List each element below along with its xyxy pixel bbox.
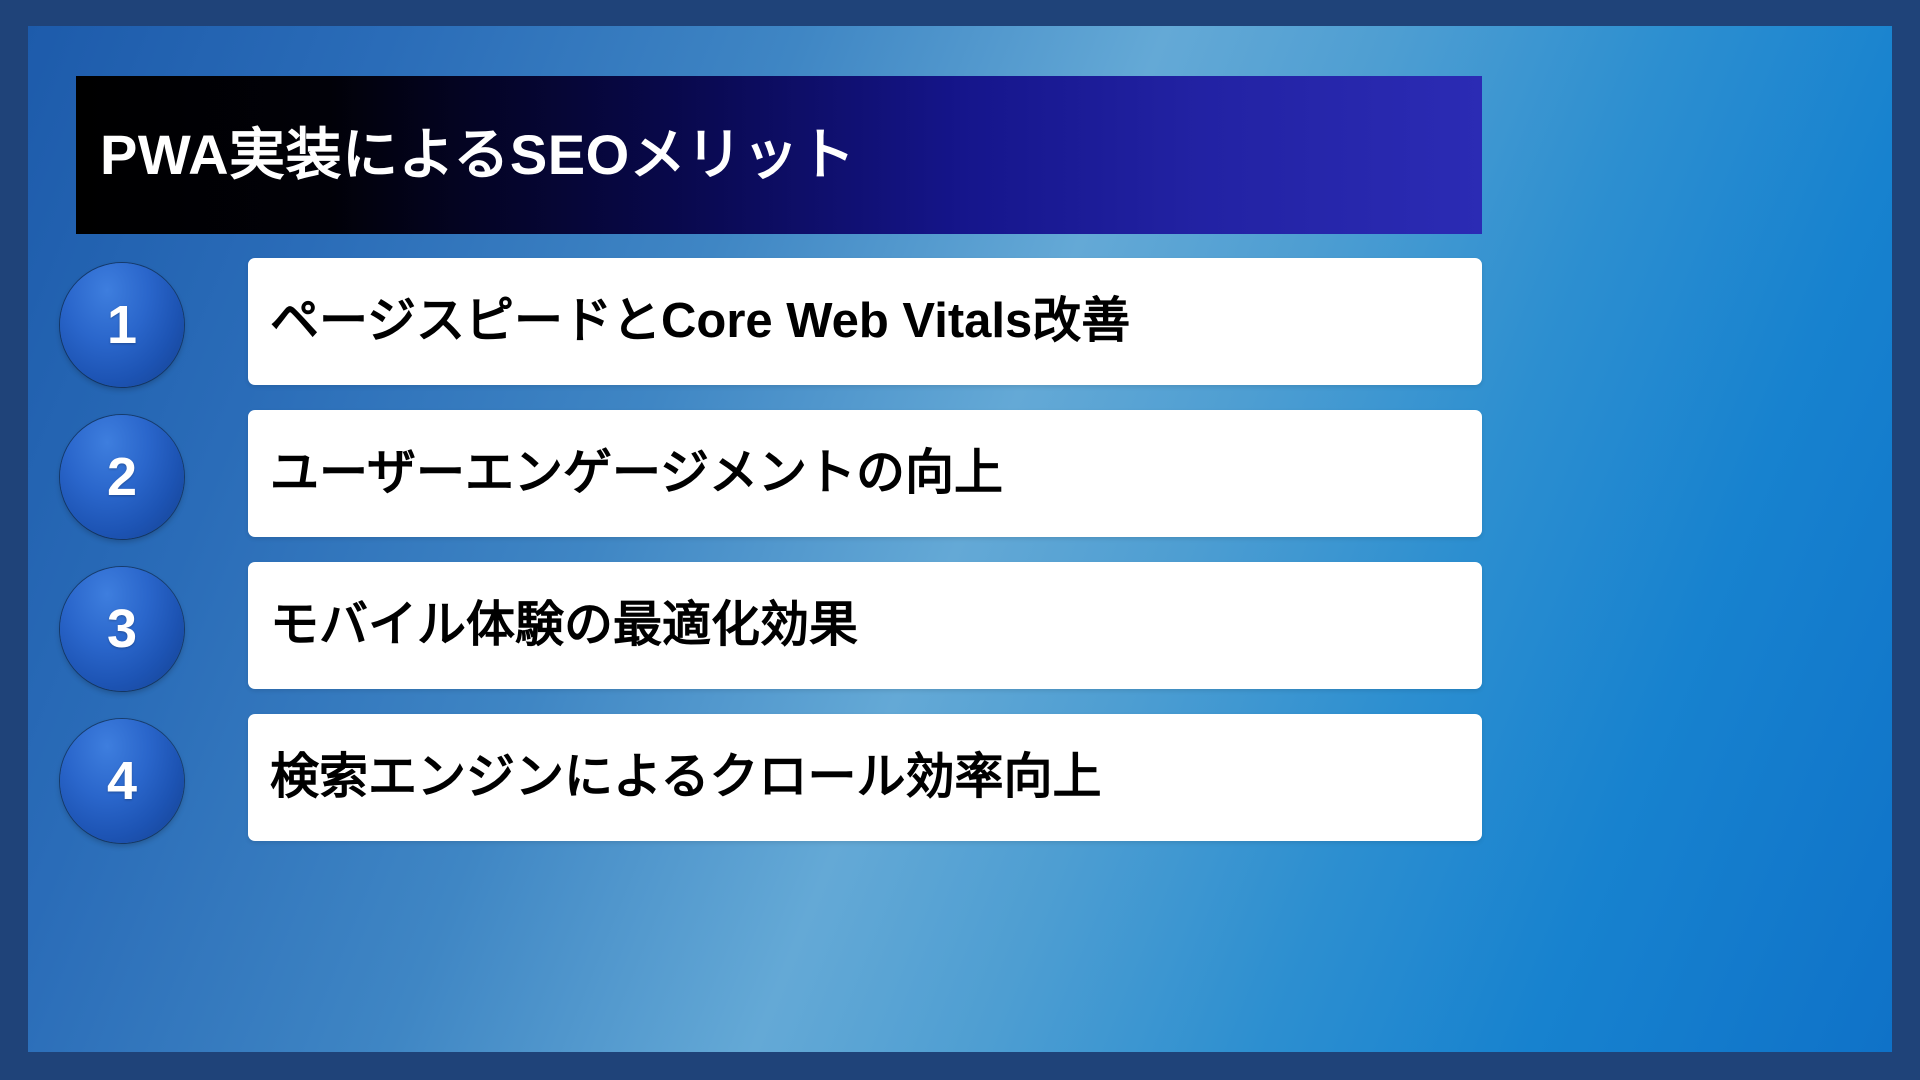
benefit-card-label: 検索エンジンによるクロール効率向上 (248, 751, 1102, 805)
benefit-card-3[interactable]: モバイル体験の最適化効果 (248, 562, 1482, 689)
benefit-card-label: ページスピードとCore Web Vitals改善 (248, 295, 1130, 349)
list-item[interactable]: 3 モバイル体験の最適化効果 (60, 562, 1484, 702)
benefit-list: 1 ページスピードとCore Web Vitals改善 2 ユーザーエンゲージメ… (60, 258, 1484, 866)
number-badge-label: 3 (107, 602, 137, 656)
number-badge-2: 2 (60, 415, 184, 539)
list-item[interactable]: 4 検索エンジンによるクロール効率向上 (60, 714, 1484, 854)
benefit-card-label: モバイル体験の最適化効果 (248, 599, 858, 653)
slide-canvas: PWA実装によるSEOメリット 1 ページスピードとCore Web Vital… (28, 26, 1892, 1052)
number-badge-label: 4 (107, 754, 137, 808)
slide-title: PWA実装によるSEOメリット (76, 124, 856, 186)
benefit-card-label: ユーザーエンゲージメントの向上 (248, 447, 1003, 501)
number-badge-label: 2 (107, 450, 137, 504)
number-badge-label: 1 (107, 298, 137, 352)
number-badge-4: 4 (60, 719, 184, 843)
benefit-card-1[interactable]: ページスピードとCore Web Vitals改善 (248, 258, 1482, 385)
title-banner: PWA実装によるSEOメリット (76, 76, 1482, 234)
number-badge-1: 1 (60, 263, 184, 387)
benefit-card-2[interactable]: ユーザーエンゲージメントの向上 (248, 410, 1482, 537)
slide-frame: PWA実装によるSEOメリット 1 ページスピードとCore Web Vital… (0, 0, 1920, 1080)
benefit-card-4[interactable]: 検索エンジンによるクロール効率向上 (248, 714, 1482, 841)
list-item[interactable]: 1 ページスピードとCore Web Vitals改善 (60, 258, 1484, 398)
number-badge-3: 3 (60, 567, 184, 691)
list-item[interactable]: 2 ユーザーエンゲージメントの向上 (60, 410, 1484, 550)
